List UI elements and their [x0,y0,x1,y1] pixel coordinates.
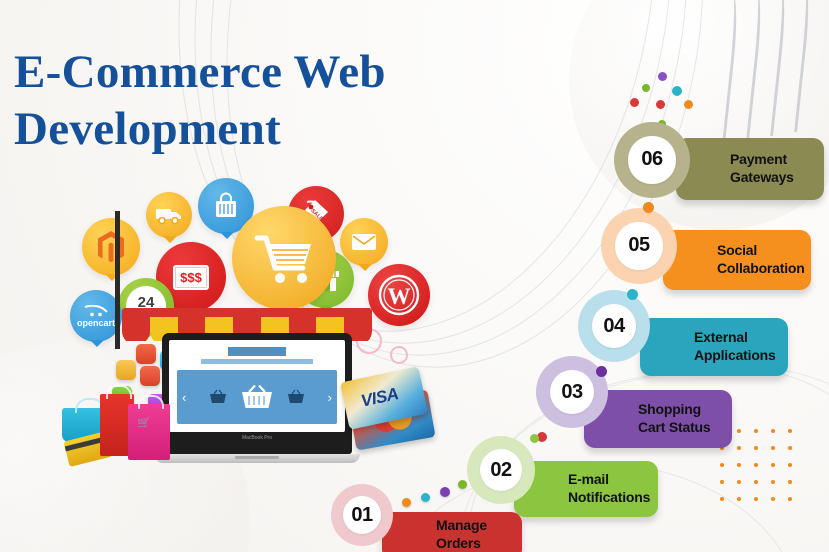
laptop-base [154,454,360,463]
step-05-connector-dot [627,289,638,300]
step-04-box[interactable]: External Applications [640,318,788,376]
email-envelope-icon [340,218,388,266]
infographic-canvas: E-Commerce Web Development [0,0,829,552]
step-06-badge[interactable]: 06 [614,122,690,198]
step-05-label-line1: Social [717,242,797,260]
visa-label: VISA [359,384,400,411]
step-05-box[interactable]: Social Collaboration [663,230,811,290]
step-05-badge[interactable]: 05 [601,208,677,284]
page-title-line2: Development [14,101,534,158]
product-carousel: ‹ [177,370,337,424]
step-04-number: 04 [592,304,637,349]
basket-icon-left [208,389,228,405]
step-06-label-line2: Gateways [730,169,810,187]
background-wave-4 [783,0,813,132]
shop-pole [115,211,120,349]
laptop-screen: ‹ [169,340,345,432]
credit-cards-group: VISA [336,374,448,448]
background-wave-2 [735,0,765,140]
wordpress-icon: W [368,264,430,326]
step-05-number: 05 [615,222,662,269]
dot-grid-decoration [720,429,805,514]
background-wave-1 [711,0,741,144]
step-02-label-line1: E-mail [568,471,644,489]
step-06-number: 06 [628,136,675,183]
step-06-connector-dot [643,202,654,213]
price-money-label: $$$ [173,265,209,290]
step-03-label-line1: Shopping [638,401,718,419]
step-04-badge[interactable]: 04 [578,290,650,362]
step-02-badge[interactable]: 02 [467,436,535,504]
step-02-label-line2: Notifications [568,489,644,507]
ecommerce-illustration: $$$ 24 Hour opencart [60,178,480,478]
step-05-label-line2: Collaboration [717,260,797,278]
decor-ring-2 [390,346,408,364]
step-04-label-line1: External [694,329,774,347]
shopping-bag-pink: 🛒 [128,404,170,460]
step-01-label-line1: Manage Orders [436,517,508,552]
carousel-prev-arrow[interactable]: ‹ [182,390,186,405]
page-title: E-Commerce Web Development [14,44,534,159]
step-02-number: 02 [480,449,522,491]
step-06-label-line1: Payment [730,151,810,169]
delivery-truck-icon [146,192,192,238]
background-wave-3 [759,0,789,136]
step-01-badge[interactable]: 01 [331,484,393,546]
step-02-box[interactable]: E-mail Notifications [514,461,658,517]
carousel-next-arrow[interactable]: › [328,390,332,405]
step-06-box[interactable]: Payment Gateways [676,138,824,200]
step-03-label-line2: Cart Status [638,419,718,437]
step-04-connector-dot [596,366,607,377]
basket-icon-right [286,389,306,405]
laptop-brand-label: MacBook Pro [169,435,345,441]
magento-icon [82,218,140,276]
step-03-number: 03 [550,370,595,415]
step-01-number: 01 [343,496,381,534]
svg-text:W: W [388,284,411,309]
step-04-label-line2: Applications [694,347,774,365]
shopping-cart-icon [232,206,336,310]
step-02-connector-dot [530,434,539,443]
basket-icon-center [240,384,274,411]
opencart-label: opencart [77,318,115,328]
page-title-line1: E-Commerce Web [14,46,386,98]
step-01-box[interactable]: Manage Orders [382,512,522,552]
laptop-device: ‹ [162,333,352,463]
confetti-dots [630,72,700,128]
